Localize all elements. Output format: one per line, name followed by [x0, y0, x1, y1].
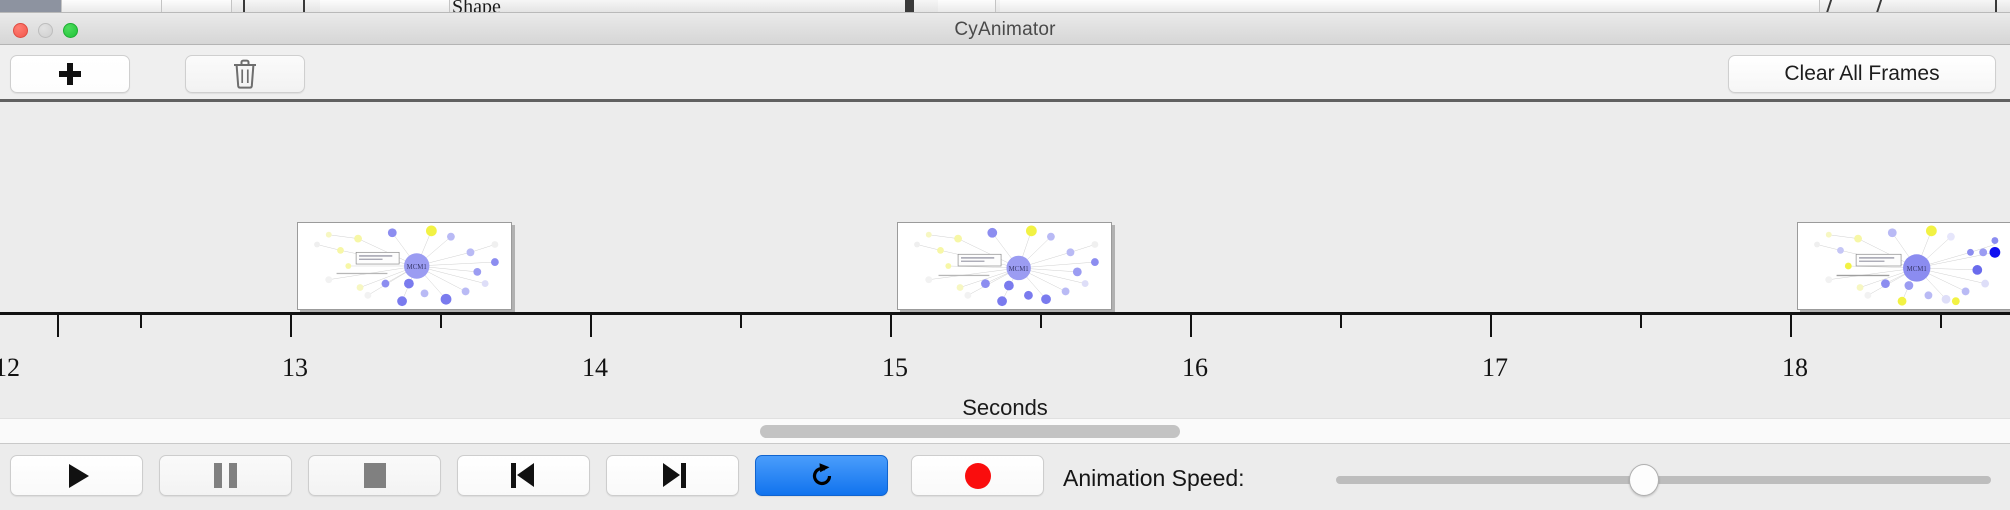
bg-tick — [905, 0, 914, 13]
svg-text:MCM1: MCM1 — [1907, 266, 1927, 273]
ruler-label: 12 — [0, 353, 20, 383]
title-bar: CyAnimator — [0, 13, 2010, 45]
pause-icon — [214, 463, 237, 488]
skip-end-button[interactable] — [606, 455, 739, 496]
network-graph-thumbnail: MCM1 — [898, 223, 1111, 309]
ruler-tick-major — [1490, 315, 1492, 337]
ruler-tick-major — [57, 315, 59, 337]
add-frame-button[interactable] — [10, 55, 130, 93]
timeline-ruler[interactable]: 12 13 14 15 16 17 18 Seconds — [0, 312, 2010, 422]
svg-text:MCM1: MCM1 — [407, 264, 427, 271]
horizontal-scrollbar[interactable] — [0, 418, 2010, 444]
ruler-tick-major — [290, 315, 292, 337]
ruler-tick-major — [890, 315, 892, 337]
frame-thumbnail[interactable]: MCM1 — [1797, 222, 2010, 310]
scrollbar-thumb[interactable] — [760, 425, 1180, 438]
timeline-track[interactable]: MCM1 — [0, 102, 2010, 312]
ruler-tick-major — [590, 315, 592, 337]
bg-tick — [1826, 0, 1832, 13]
svg-text:MCM1: MCM1 — [1009, 266, 1029, 273]
delete-frame-button[interactable] — [185, 55, 305, 93]
bg-tick — [1876, 0, 1882, 13]
ruler-tick-minor — [1040, 315, 1042, 328]
bg-tick — [1995, 0, 1997, 13]
skip-back-icon — [511, 463, 537, 488]
ruler-tick-minor — [1340, 315, 1342, 328]
skip-start-button[interactable] — [457, 455, 590, 496]
bg-chip — [938, 0, 996, 13]
animation-speed-slider-thumb[interactable] — [1629, 464, 1659, 496]
ruler-label: 18 — [1782, 353, 1808, 383]
loop-icon — [807, 461, 837, 491]
bg-chip — [62, 0, 162, 13]
record-icon — [965, 463, 991, 489]
animation-speed-slider[interactable] — [1336, 476, 1991, 484]
stop-icon — [364, 463, 386, 488]
ruler-tick-minor — [440, 315, 442, 328]
trash-icon — [232, 59, 258, 89]
loop-button[interactable] — [755, 455, 888, 496]
bg-chip — [320, 0, 450, 13]
plus-icon — [59, 63, 81, 85]
ruler-label: 13 — [282, 353, 308, 383]
network-graph-thumbnail: MCM1 — [1798, 223, 2010, 309]
ruler-label: 17 — [1482, 353, 1508, 383]
network-graph-thumbnail: MCM1 — [298, 223, 511, 309]
frame-thumbnail[interactable]: MCM1 — [297, 222, 512, 310]
ruler-tick-minor — [140, 315, 142, 328]
frame-thumbnail[interactable]: MCM1 — [897, 222, 1112, 310]
window-title: CyAnimator — [0, 19, 2010, 41]
bg-window-label: Shape — [452, 0, 501, 13]
pause-button[interactable] — [159, 455, 292, 496]
stop-button[interactable] — [308, 455, 441, 496]
playback-bar: Animation Speed: — [0, 445, 2010, 510]
bg-tick — [303, 0, 305, 13]
toolbar: Clear All Frames — [0, 45, 2010, 102]
ruler-tick-major — [1190, 315, 1192, 337]
bg-chip — [0, 0, 62, 13]
record-button[interactable] — [911, 455, 1044, 496]
ruler-tick-minor — [1640, 315, 1642, 328]
bg-chip — [1000, 0, 1820, 13]
background-window-strip: Shape — [0, 0, 2010, 13]
play-icon — [69, 464, 89, 488]
animation-speed-label: Animation Speed: — [1063, 465, 1245, 492]
bg-tick — [243, 0, 245, 13]
ruler-label: 16 — [1182, 353, 1208, 383]
bg-chip — [162, 0, 232, 13]
ruler-tick-minor — [1940, 315, 1942, 328]
clear-all-frames-button[interactable]: Clear All Frames — [1728, 55, 1996, 93]
ruler-label: 15 — [882, 353, 908, 383]
ruler-tick-major — [1790, 315, 1792, 337]
play-button[interactable] — [10, 455, 143, 496]
skip-forward-icon — [660, 463, 686, 488]
ruler-label: 14 — [582, 353, 608, 383]
ruler-tick-minor — [740, 315, 742, 328]
